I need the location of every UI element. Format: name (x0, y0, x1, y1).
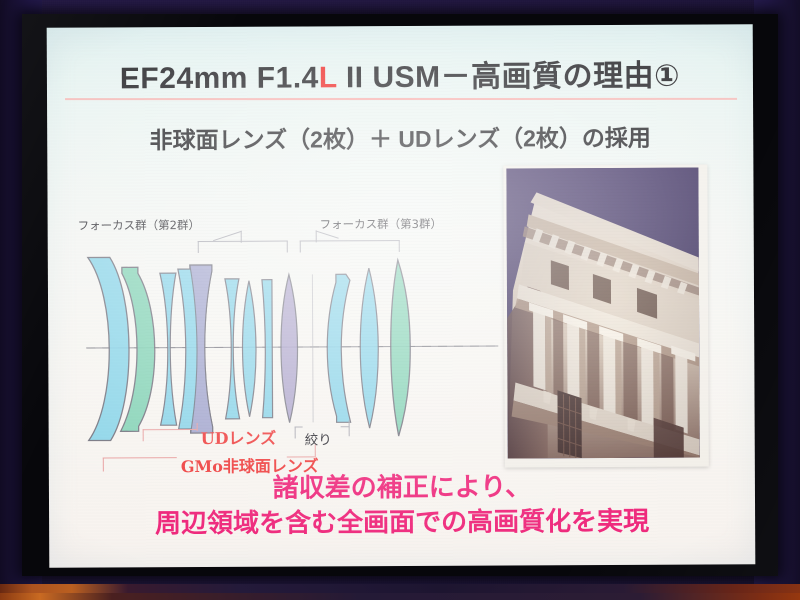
aperture-position-line (312, 274, 314, 422)
slide-title-suffix: II USM－高画質の理由① (337, 60, 680, 95)
slide-subtitle: 非球面レンズ（2枚）＋ UDレンズ（2枚）の採用 (47, 118, 753, 155)
lens-element-6-cyan-biconvex (239, 279, 260, 419)
screenshot-stage: EF24mm F1.4L II USM－高画質の理由① 非球面レンズ（2枚）＋ … (0, 0, 800, 600)
floor-band-accent (0, 593, 800, 600)
conclusion-line-2: 周辺領域を含む全画面での高画質化を実現 (49, 502, 755, 541)
lens-element-7-cyan (258, 277, 277, 421)
lens-element-10-cyan-biconvex (356, 266, 383, 430)
lens-element-8-purple-gmo-aspherical (276, 272, 303, 424)
aperture-leader-line-right (341, 426, 350, 427)
conclusion-line-1: 諸収差の補正により、 (49, 468, 755, 505)
focus-group-2-bracket (198, 241, 288, 253)
focus-group-3-label: フォーカス群（第3群） (320, 216, 442, 233)
aperture-leader-stem-left (295, 427, 296, 439)
sample-photo-frame (503, 165, 708, 468)
focus-group-2-bracket-stem (241, 231, 242, 243)
title-underline-rule (65, 98, 737, 100)
gmo-leader-line-left (103, 457, 177, 458)
sample-photo (506, 168, 699, 459)
conclusion-text: 諸収差の補正により、 周辺領域を含む全画面での高画質化を実現 (49, 468, 755, 541)
slide-title: EF24mm F1.4L II USM－高画質の理由① (47, 50, 753, 97)
slide-title-red-letter: L (319, 61, 337, 94)
lens-element-11-green-aspherical (384, 258, 417, 438)
aperture-callout: 絞り (305, 428, 332, 448)
aperture-leader-line (295, 426, 303, 427)
ud-lens-callout: UDレンズ (201, 425, 277, 449)
focus-group-3-bracket (300, 240, 400, 252)
ud-leader-stem-left (143, 429, 144, 441)
lens-element-9-cyan-meniscus (324, 270, 359, 426)
lens-doublet-cyan-purple (176, 263, 225, 435)
lens-cross-section-diagram: フォーカス群（第2群） フォーカス群（第3群） (71, 178, 502, 480)
ud-leader-stem-right (197, 423, 198, 431)
slide-title-prefix: EF24mm F1.4 (120, 61, 319, 95)
presentation-slide: EF24mm F1.4L II USM－高画質の理由① 非球面レンズ（2枚）＋ … (47, 24, 756, 567)
focus-group-3-bracket-stem (316, 230, 317, 242)
focus-group-2-leader-line (213, 231, 242, 241)
aperture-leader-stem-right (349, 420, 350, 436)
gmo-leader-stem-left (103, 457, 104, 471)
focus-group-2-label: フォーカス群（第2群） (78, 217, 200, 234)
